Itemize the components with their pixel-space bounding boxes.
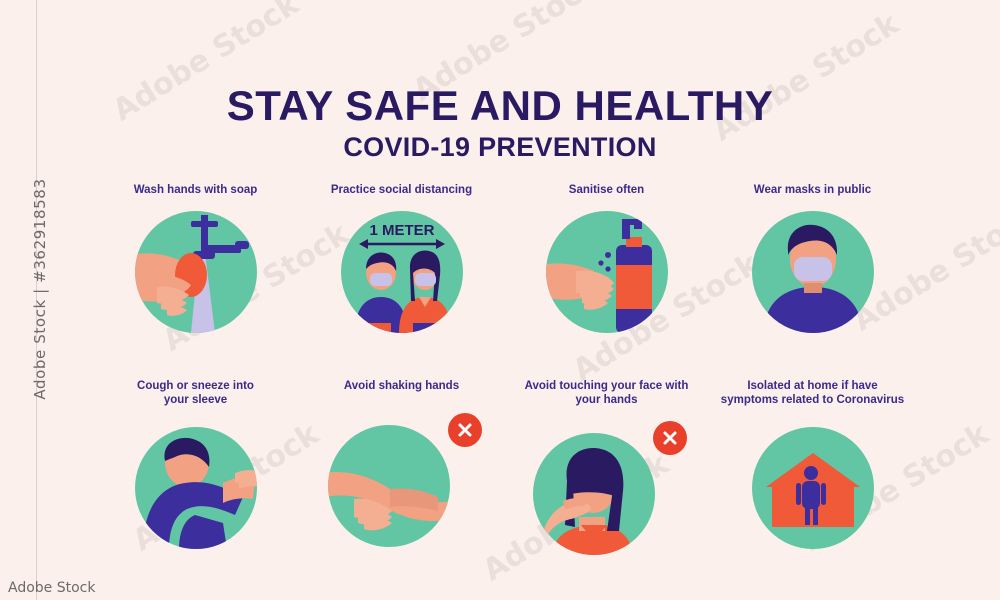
tip-card-avoid-face-touch[interactable]: Avoid touching your face with your hands [504,379,709,555]
tip-card-cough-sleeve[interactable]: Cough or sneeze into your sleeve [93,379,298,549]
tip-card-avoid-handshake[interactable]: Avoid shaking hands [299,379,504,547]
infographic-canvas: Adobe Stock Adobe Stock Adobe Stock Adob… [0,0,1000,600]
tip-caption: Cough or sneeze into your sleeve [93,379,298,407]
page-subtitle: COVID-19 PREVENTION [0,132,1000,163]
close-icon [660,428,680,448]
tip-caption: Isolated at home if have symptoms relate… [710,379,915,407]
watermark-bottom-text: Adobe Stock [8,580,95,596]
tip-caption-line2: your sleeve [93,393,298,407]
hand-washing-tap-icon [135,211,257,333]
handshake-icon [328,425,450,547]
watermark-side-text: Adobe Stock | #362918583 [31,159,49,419]
tip-card-social-distancing[interactable]: Practice social distancing 1 METER [299,183,504,333]
tip-caption-line1: Avoid touching your face with [504,379,709,393]
tip-caption: Practice social distancing [299,183,504,197]
tip-caption: Wash hands with soap [93,183,298,197]
tip-caption: Avoid touching your face with your hands [504,379,709,407]
tip-caption-line1: Cough or sneeze into [93,379,298,393]
close-icon [455,420,475,440]
woman-touching-face-icon [533,433,655,555]
two-people-distance-icon: 1 METER [341,211,463,333]
tip-caption-line1: Isolated at home if have [710,379,915,393]
tip-caption-line2: symptoms related to Coronavirus [710,393,915,407]
tip-caption: Wear masks in public [710,183,915,197]
tip-caption: Avoid shaking hands [299,379,504,393]
tip-card-sanitise[interactable]: Sanitise often [504,183,709,333]
tip-card-wash-hands[interactable]: Wash hands with soap [93,183,298,333]
tip-caption-line2: your hands [504,393,709,407]
tip-caption: Sanitise often [504,183,709,197]
cross-badge-icon [448,413,482,447]
tip-card-isolate-home[interactable]: Isolated at home if have symptoms relate… [710,379,915,549]
person-wearing-mask-icon [752,211,874,333]
svg-text:1 METER: 1 METER [369,222,434,239]
sanitiser-bottle-hand-icon [546,211,668,333]
page-title: STAY SAFE AND HEALTHY [0,82,1000,130]
cross-badge-icon [653,421,687,455]
person-in-house-icon [752,427,874,549]
tip-card-wear-mask[interactable]: Wear masks in public [710,183,915,333]
cough-into-elbow-icon [135,427,257,549]
